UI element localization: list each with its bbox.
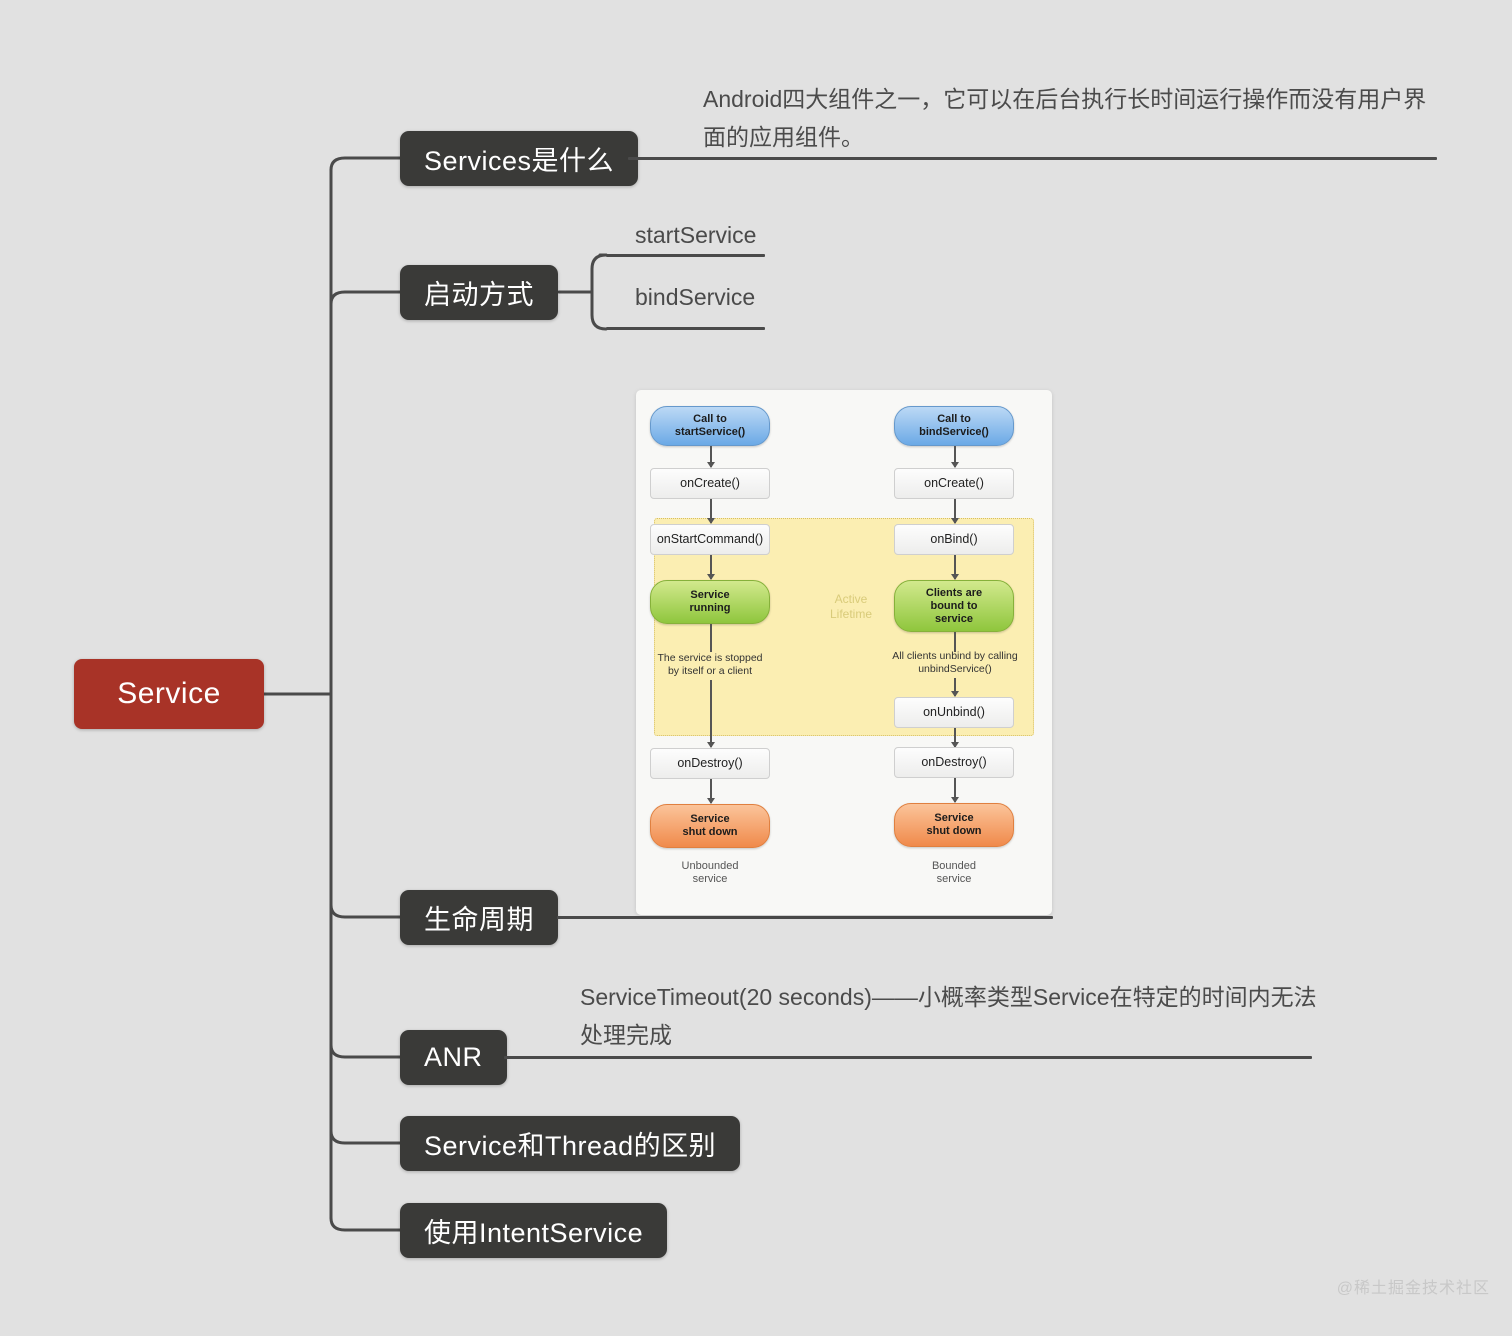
branch-node-label: Services是什么 [424, 139, 614, 178]
note-underline-anr [504, 1056, 1312, 1059]
note-underline-services-what [628, 157, 1437, 160]
root-node-service[interactable]: Service [74, 659, 264, 729]
leaf-label-start-service[interactable]: startService [635, 222, 756, 249]
lcbox-service-shut-down-right: Service shut down [894, 803, 1014, 847]
branch-node-use-intent-service[interactable]: 使用IntentService [400, 1203, 667, 1258]
branch-node-label: ANR [424, 1042, 483, 1073]
lifecycle-image-panel: Active Lifetime Call to startService() o… [636, 390, 1052, 915]
lcbox-call-to-start-service: Call to startService() [650, 406, 770, 446]
branch-node-anr[interactable]: ANR [400, 1030, 507, 1085]
branch-node-label: Service和Thread的区别 [424, 1124, 716, 1163]
lctext-clients-unbind-note: All clients unbind by calling unbindServ… [876, 650, 1034, 676]
line-segment [954, 632, 956, 652]
lcbox-on-start-command: onStartCommand() [650, 524, 770, 555]
lctext-service-stopped-note: The service is stopped by itself or a cl… [640, 652, 780, 678]
lcbox-on-bind: onBind() [894, 524, 1014, 555]
branch-node-label: 生命周期 [424, 898, 534, 937]
lcbox-on-unbind: onUnbind() [894, 697, 1014, 728]
arrow-icon [710, 779, 712, 803]
arrow-icon [954, 555, 956, 579]
mindmap-canvas: Service Services是什么 Android四大组件之一，它可以在后台… [0, 0, 1512, 1336]
branch-node-lifecycle[interactable]: 生命周期 [400, 890, 558, 945]
branch-node-service-vs-thread[interactable]: Service和Thread的区别 [400, 1116, 740, 1171]
image-underline-lifecycle [557, 916, 1053, 919]
branch-node-services-what[interactable]: Services是什么 [400, 131, 638, 186]
active-lifetime-label: Active Lifetime [818, 592, 884, 622]
lcbox-on-destroy-left: onDestroy() [650, 748, 770, 779]
lcbox-service-running: Service running [650, 580, 770, 624]
arrow-icon [710, 555, 712, 579]
arrow-icon [710, 499, 712, 523]
lcbox-on-destroy-right: onDestroy() [894, 747, 1014, 778]
arrow-icon [710, 446, 712, 467]
caption-unbounded-service: Unbounded service [660, 860, 760, 886]
leaf-label-bind-service[interactable]: bindService [635, 284, 755, 311]
lcbox-on-create-left: onCreate() [650, 468, 770, 499]
arrow-icon [954, 778, 956, 802]
leaf-underline-bind-service [606, 327, 765, 330]
arrow-icon [710, 680, 712, 747]
arrow-icon [954, 728, 956, 747]
lcbox-service-shut-down-left: Service shut down [650, 804, 770, 848]
root-node-label: Service [117, 677, 221, 711]
watermark: @稀土掘金技术社区 [1337, 1274, 1490, 1298]
arrow-icon [954, 446, 956, 467]
leaf-underline-start-service [606, 254, 765, 257]
branch-node-label: 启动方式 [424, 273, 534, 312]
caption-bounded-service: Bounded service [904, 860, 1004, 886]
lcbox-call-to-bind-service: Call to bindService() [894, 406, 1014, 446]
note-anr: ServiceTimeout(20 seconds)——小概率类型Service… [580, 978, 1320, 1054]
note-services-what: Android四大组件之一，它可以在后台执行长时间运行操作而没有用户界面的应用组… [703, 80, 1443, 156]
branch-node-start-modes[interactable]: 启动方式 [400, 265, 558, 320]
arrow-icon [954, 678, 956, 696]
arrow-icon [954, 499, 956, 523]
lcbox-clients-bound-to-service: Clients are bound to service [894, 580, 1014, 632]
line-segment [710, 624, 712, 652]
branch-node-label: 使用IntentService [424, 1211, 643, 1250]
lcbox-on-create-right: onCreate() [894, 468, 1014, 499]
